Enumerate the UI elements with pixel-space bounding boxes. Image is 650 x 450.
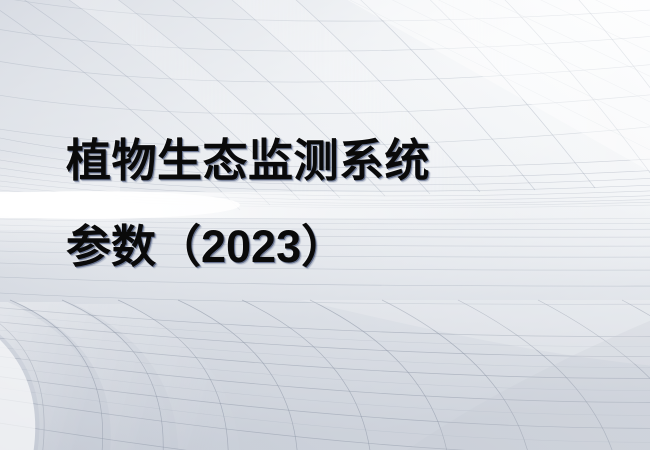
title-slide: 植物生态监测系统 参数（2023） [0, 0, 650, 450]
background-artwork [0, 0, 650, 450]
